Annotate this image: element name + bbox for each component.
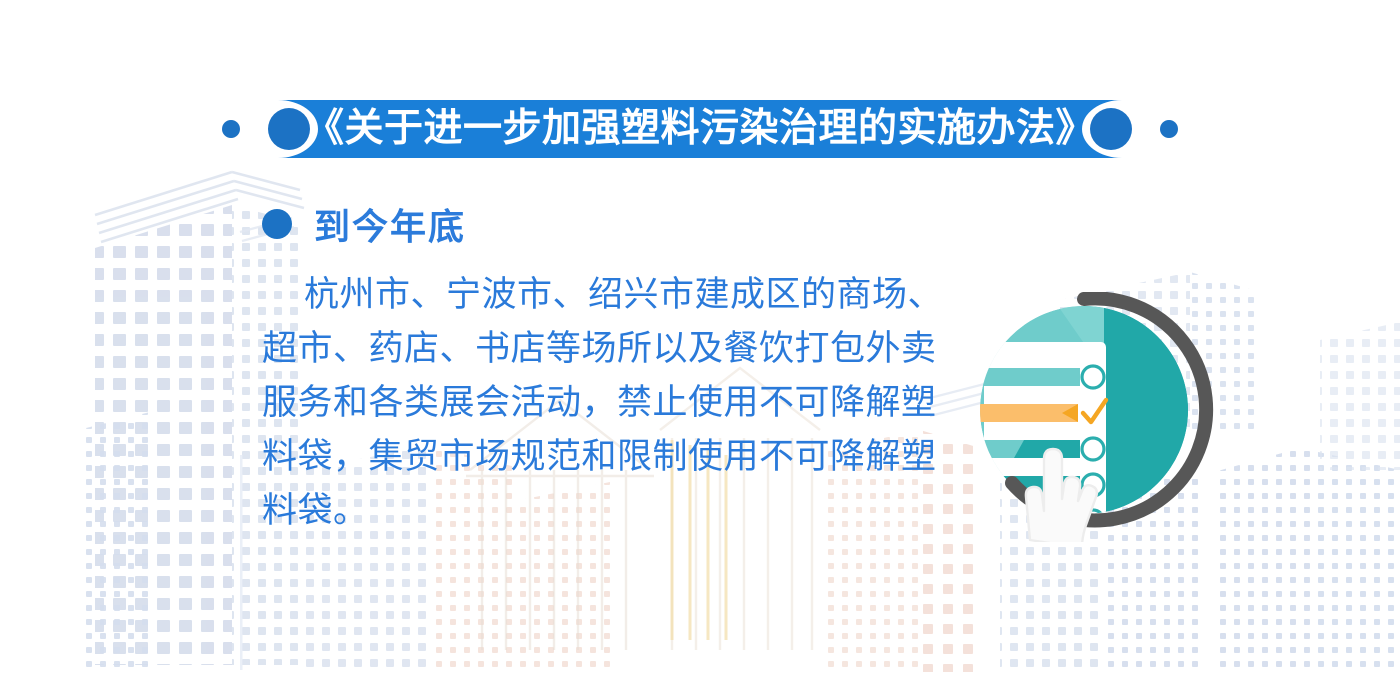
body-paragraph: 杭州市、宁波市、绍兴市建成区的商场、超市、药店、书店等场所以及餐饮打包外卖服务和…	[262, 268, 968, 538]
section-heading-label: 到今年底	[314, 198, 466, 250]
checklist-row-bar	[974, 368, 1080, 386]
background-building-far-right	[1320, 322, 1400, 470]
poster-canvas: 《关于进一步加强塑料污染治理的实施办法》 到今年底 杭州市、宁波市、绍兴市建成区…	[0, 0, 1400, 700]
checklist-row-bar-active	[966, 404, 1078, 422]
section-heading: 到今年底	[262, 198, 466, 250]
checklist-circle-illustration	[966, 292, 1226, 542]
bullet-dot-icon	[262, 209, 292, 239]
background-building-left-low	[78, 412, 243, 670]
page-title: 《关于进一步加强塑料污染治理的实施办法》	[0, 100, 1400, 158]
